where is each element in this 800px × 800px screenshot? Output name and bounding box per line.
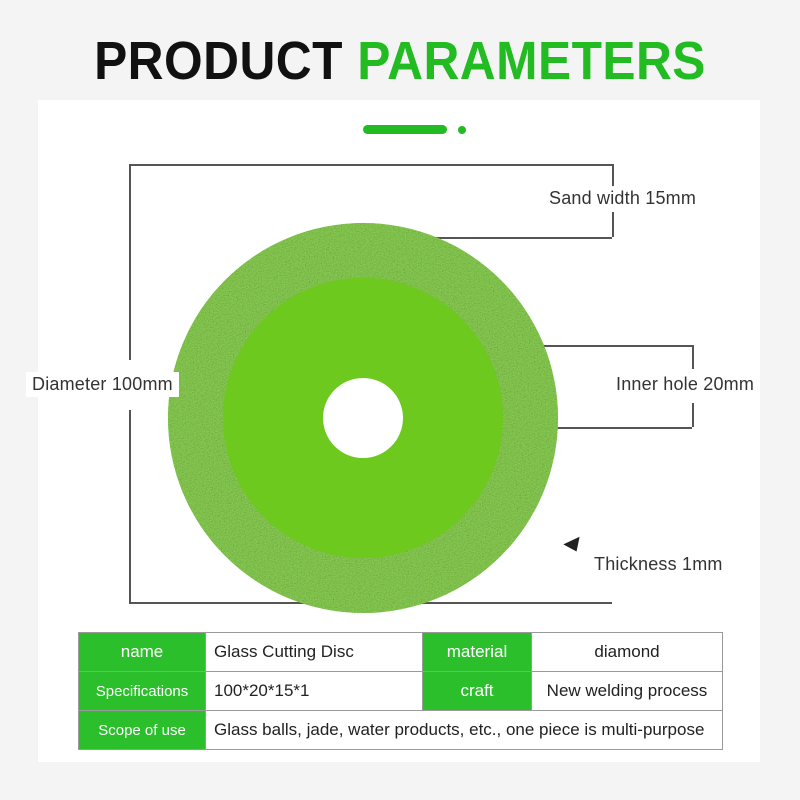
label-diameter: Diameter 100mm [26,372,179,397]
page-title-accent: PARAMETERS [357,31,706,91]
spec-key-material: material [423,633,532,672]
spec-value-name: Glass Cutting Disc [206,633,423,672]
spec-value-scope-of-use: Glass balls, jade, water products, etc.,… [206,711,723,750]
content-card: Sand width 15mm Inner hole 20mm Diameter… [38,100,760,762]
table-row: Specifications 100*20*15*1 craft New wel… [79,672,723,711]
leader-sandwidth-vert-lower [612,212,614,237]
label-sand-width: Sand width 15mm [543,186,702,211]
disc-svg [168,158,558,678]
product-disc-image [168,158,558,678]
table-row: name Glass Cutting Disc material diamond [79,633,723,672]
spec-key-specifications: Specifications [79,672,206,711]
leader-sandwidth-vert-upper [612,164,614,188]
page-title: PRODUCT PARAMETERS [32,32,768,90]
label-inner-hole: Inner hole 20mm [610,372,760,397]
spec-key-name: name [79,633,206,672]
leader-innerhole-vert-upper [692,345,694,369]
spec-value-craft: New welding process [532,672,723,711]
decoration-dot-icon [458,126,466,134]
spec-key-craft: craft [423,672,532,711]
leader-diameter-vert-upper [129,164,131,360]
leader-innerhole-vert-lower [692,403,694,427]
label-thickness: Thickness 1mm [588,552,729,577]
table-row: Scope of use Glass balls, jade, water pr… [79,711,723,750]
product-parameters-page: PRODUCT PARAMETERS [0,0,800,800]
spec-key-scope-of-use: Scope of use [79,711,206,750]
leader-diameter-vert-lower [129,410,131,602]
specification-table: name Glass Cutting Disc material diamond… [78,632,723,750]
spec-value-specifications: 100*20*15*1 [206,672,423,711]
thickness-arrow-icon [563,537,584,555]
spec-value-material: diamond [532,633,723,672]
page-title-dark: PRODUCT [94,31,343,91]
decoration-bar-icon [363,125,447,134]
